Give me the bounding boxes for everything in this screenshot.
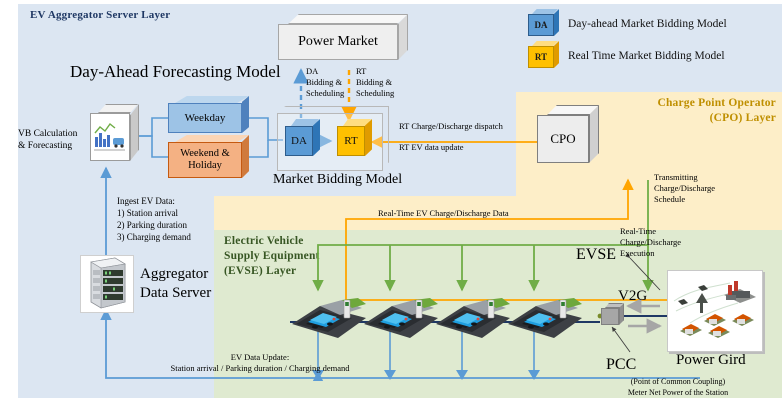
ev-station-4[interactable] <box>506 296 584 347</box>
power-grid-label: Power Gird <box>676 352 746 369</box>
transmit-schedule-line3: Schedule <box>654 194 740 205</box>
vb-calculation-line2: & Forecasting <box>18 140 94 152</box>
weekend-holiday-box[interactable]: Weekend & Holiday <box>168 142 242 178</box>
power-market-box[interactable]: Power Market <box>278 24 398 60</box>
da-bidding-line3: Scheduling <box>306 88 356 99</box>
legend-label-da: Day-ahead Market Bidding Model <box>568 18 727 30</box>
ev-station-2[interactable] <box>362 296 440 347</box>
da-cube-label: DA <box>528 14 554 36</box>
ingest-title: Ingest EV Data: <box>117 195 191 207</box>
realtime-execution-label: Real-Time Charge/Discharge Execution <box>620 226 706 259</box>
transmit-schedule-line1: Transmitting <box>654 172 740 183</box>
rt-bidding-line2: Bidding & <box>356 77 408 88</box>
ev-station-3[interactable] <box>434 296 512 347</box>
pcc-box[interactable] <box>601 308 619 325</box>
ev-data-update-label: EV Data Update: Station arrival / Parkin… <box>110 352 410 374</box>
ingest-ev-data-label: Ingest EV Data: 1) Station arrival 2) Pa… <box>117 195 191 243</box>
ingest-item-3: 3) Charging demand <box>117 231 191 243</box>
leader-pcc-callout <box>612 327 630 352</box>
edge-weekend-to-da <box>249 140 268 157</box>
ingest-item-1: 1) Station arrival <box>117 207 191 219</box>
pcc-sublabel: (Point of Common Coupling) Meter Net Pow… <box>578 376 778 398</box>
cpo-box[interactable]: CPO <box>537 115 589 163</box>
ev-station-1[interactable] <box>290 296 368 347</box>
power-grid-icon <box>667 270 763 352</box>
rt-cube-label: RT <box>528 46 554 68</box>
realtime-ev-data-label: Real-Time EV Charge/Discharge Data <box>378 208 509 218</box>
rt-bidding-line3: Scheduling <box>356 88 408 99</box>
realtime-execution-line2: Charge/Discharge <box>620 237 706 248</box>
ev-data-update-sub: Station arrival / Parking duration / Cha… <box>110 363 410 374</box>
aggregator-server-line2: Data Server <box>140 284 211 303</box>
rt-cube[interactable]: RT <box>337 126 365 156</box>
da-cube-text: DA <box>285 126 313 156</box>
vb-calculation-label: VB Calculation & Forecasting <box>18 128 94 152</box>
pcc-label: PCC <box>606 356 636 374</box>
realtime-execution-line3: Execution <box>620 248 706 259</box>
ev-data-update-title: EV Data Update: <box>110 352 410 363</box>
forecasting-model-title: Day-Ahead Forecasting Model <box>70 62 281 82</box>
v2g-label: V2G <box>618 288 647 305</box>
legend-label-rt: Real Time Market Bidding Model <box>568 50 725 62</box>
market-bidding-model-title: Market Bidding Model <box>273 172 402 188</box>
weekend-holiday-label: Weekend & Holiday <box>168 142 242 178</box>
legend-item-da: DA Day-ahead Market Bidding Model <box>520 12 778 44</box>
pcc-sublabel-line2: Meter Net Power of the Station <box>578 387 778 398</box>
rt-ev-update-label: RT EV data update <box>399 142 464 152</box>
edge-transmit-schedule <box>318 180 648 290</box>
vb-calculation-line1: VB Calculation <box>18 128 94 140</box>
aggregator-server-line1: Aggregator <box>140 265 211 284</box>
transmit-schedule-label: Transmitting Charge/Discharge Schedule <box>654 172 740 205</box>
da-bidding-line2: Bidding & <box>306 77 356 88</box>
rt-cube-icon: RT <box>528 46 554 68</box>
legend: DA Day-ahead Market Bidding Model RT Rea… <box>520 12 778 76</box>
cpo-box-label: CPO <box>537 115 589 163</box>
power-market-label: Power Market <box>278 24 398 60</box>
rt-bidding-line1: RT <box>356 66 408 77</box>
da-bidding-line1: DA <box>306 66 356 77</box>
da-bidding-label: DA Bidding & Scheduling <box>306 66 356 99</box>
rt-dispatch-label: RT Charge/Discharge dispatch <box>399 121 503 131</box>
evse-callout-label: EVSE <box>576 246 616 264</box>
ingest-item-2: 2) Parking duration <box>117 219 191 231</box>
vb-forecast-cube <box>90 113 130 161</box>
rt-bidding-label: RT Bidding & Scheduling <box>356 66 408 99</box>
realtime-execution-line1: Real-Time <box>620 226 706 237</box>
weekend-holiday-line2: Holiday <box>188 160 222 172</box>
weekday-box[interactable]: Weekday <box>168 103 242 133</box>
weekend-holiday-line1: Weekend & <box>180 148 230 160</box>
weekday-label: Weekday <box>168 103 242 133</box>
legend-item-rt: RT Real Time Market Bidding Model <box>520 44 778 76</box>
aggregator-server-label: Aggregator Data Server <box>140 265 211 303</box>
aggregator-server-icon <box>80 255 134 313</box>
leader-evse-callout <box>630 258 660 290</box>
pcc-sublabel-line1: (Point of Common Coupling) <box>578 376 778 387</box>
forecast-chart-icon <box>93 119 127 157</box>
da-cube[interactable]: DA <box>285 126 313 156</box>
diagram-canvas: EV Aggregator Server Layer Charge Point … <box>0 0 782 408</box>
da-cube-icon: DA <box>528 14 554 36</box>
rt-cube-text: RT <box>337 126 365 156</box>
transmit-schedule-line2: Charge/Discharge <box>654 183 740 194</box>
